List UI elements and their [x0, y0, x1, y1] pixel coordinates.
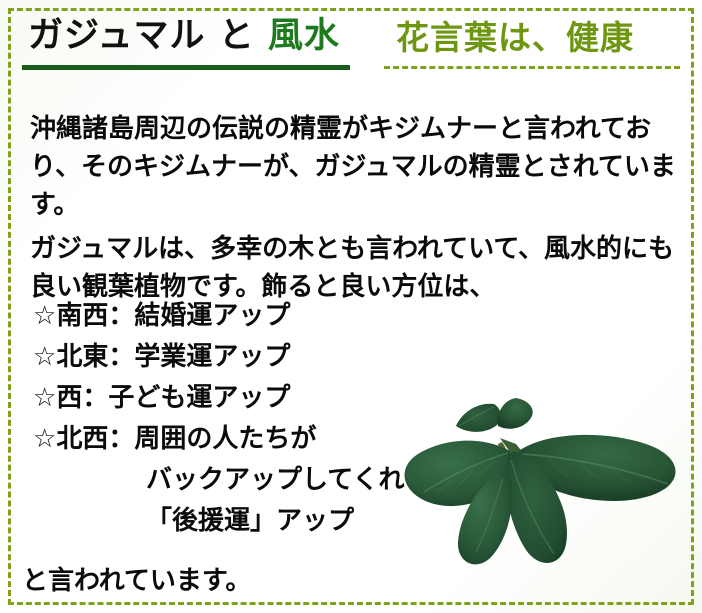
- title-underline-solid: [22, 65, 350, 70]
- star-icon: ☆: [33, 424, 56, 454]
- paragraph-fengshui: ガジュマルは、多幸の木とも言われていて、風水的にも良い観葉植物です。飾ると良い方…: [30, 230, 678, 306]
- page-title-accent: 風水: [268, 16, 340, 56]
- page-subtitle: 花言葉は、健康: [396, 16, 634, 60]
- page-title: ガジュマル と 風水: [28, 14, 340, 58]
- star-icon: ☆: [33, 383, 56, 413]
- star-icon: ☆: [33, 301, 56, 331]
- star-icon: ☆: [33, 342, 56, 372]
- closing-text: と言われています。: [22, 562, 251, 600]
- paragraph-legend: 沖縄諸島周辺の伝説の精霊がキジムナーと言われており、そのキジムナーが、ガジュマル…: [30, 110, 678, 224]
- list-item-label: 北東：学業運アップ: [56, 342, 290, 372]
- banyan-leaf-image: [398, 398, 690, 568]
- leaf-shape: [498, 398, 533, 429]
- list-item-label: 西：子ども運アップ: [56, 383, 290, 413]
- page-title-black: ガジュマル と: [28, 16, 268, 56]
- leaf-shape: [456, 404, 501, 432]
- header: ガジュマル と 風水 花言葉は、健康: [0, 14, 702, 76]
- list-item: ☆北東：学業運アップ: [0, 337, 702, 378]
- list-item: ☆南西：結婚運アップ: [0, 296, 702, 337]
- infographic-card: ガジュマル と 風水 花言葉は、健康 沖縄諸島周辺の伝説の精霊がキジムナーと言わ…: [0, 0, 702, 613]
- list-item-label: 南西：結婚運アップ: [56, 301, 290, 331]
- list-item-label: 北西：周囲の人たちが: [56, 424, 316, 454]
- subtitle-underline-dashed: [384, 66, 680, 69]
